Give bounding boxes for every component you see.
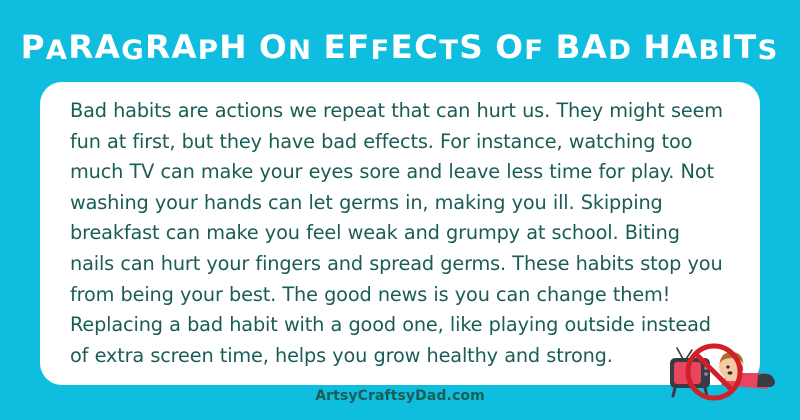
paragraph-card: Bad habits are actions we repeat that ca… xyxy=(40,82,760,385)
page-title: PARAGRAPHONEFFECTSOFBADHABITS xyxy=(21,31,779,63)
paragraph-body-text: Bad habits are actions we repeat that ca… xyxy=(70,96,730,371)
title-bar: PARAGRAPHONEFFECTSOFBADHABITS xyxy=(0,24,800,70)
poster-canvas: PARAGRAPHONEFFECTSOFBADHABITS Bad habits… xyxy=(0,0,800,420)
footer-credit: ArtsyCraftsyDad.com xyxy=(0,388,800,404)
